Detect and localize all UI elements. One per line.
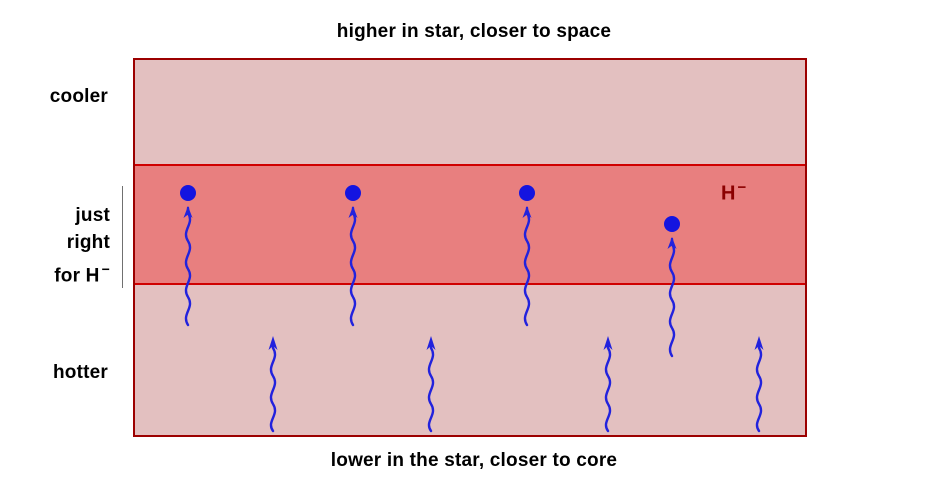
photon-wave-icon [168,200,208,325]
free-photon-4 [739,336,779,431]
electron-dot [664,216,680,232]
absorbed-photon-1 [168,200,208,325]
diagram-canvas: higher in star, closer to space cooler j… [0,0,948,498]
free-photon-2 [411,336,451,431]
stellar-atmosphere-figure: H− [133,58,807,437]
just-right-line-3-text: for H [54,265,99,286]
hminus-letter: H [721,183,735,205]
band-cool-upper-layer [135,60,805,164]
free-photon-3 [588,336,628,431]
electron-dot [180,185,196,201]
minus-superscript-icon: − [102,261,110,277]
hminus-layer-bracket [122,186,123,288]
label-hotter: hotter [0,362,108,384]
photon-wave-icon [253,336,293,431]
just-right-line-3: for H− [0,256,110,289]
photon-wave-icon [411,336,451,431]
electron-dot [345,185,361,201]
absorbed-photon-4 [652,231,692,356]
hminus-charge-superscript-icon: − [737,179,746,196]
absorbed-photon-3 [507,200,547,325]
photon-wave-icon [652,231,692,356]
absorbed-photon-2 [333,200,373,325]
photon-wave-icon [588,336,628,431]
photon-wave-icon [507,200,547,325]
free-photon-1 [253,336,293,431]
bottom-caption: lower in the star, closer to core [0,450,948,472]
photon-wave-icon [739,336,779,431]
photon-wave-icon [333,200,373,325]
top-caption: higher in star, closer to space [0,21,948,43]
hminus-species-label: H− [721,179,746,206]
label-cooler: cooler [0,86,108,108]
band-hminus-layer [135,164,805,285]
band-hot-lower-layer [135,285,805,437]
label-just-right-for-h-minus: just right for H− [0,202,110,289]
just-right-line-2: right [0,229,110,256]
just-right-line-1: just [0,202,110,229]
electron-dot [519,185,535,201]
